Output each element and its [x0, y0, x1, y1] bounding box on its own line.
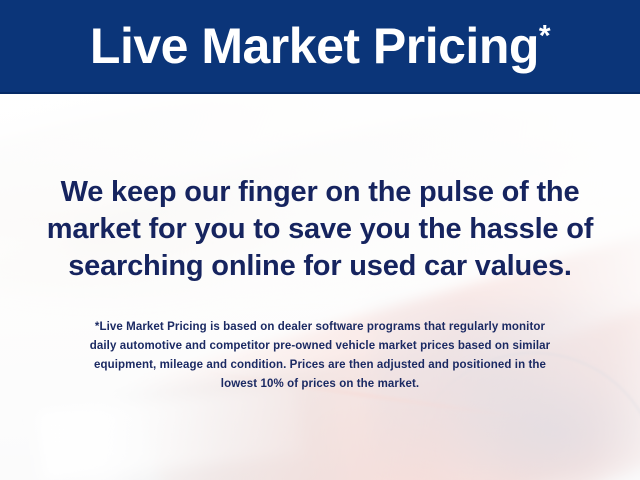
page-title-text: Live Market Pricing: [90, 18, 539, 74]
disclaimer-line-1: *Live Market Pricing is based on dealer …: [0, 318, 640, 337]
background-white-streak: [37, 385, 303, 480]
headline-line-2: market for you to save you the hassle of: [0, 211, 640, 248]
disclaimer: *Live Market Pricing is based on dealer …: [0, 318, 640, 394]
header-bar: Live Market Pricing*: [0, 0, 640, 94]
disclaimer-line-4: lowest 10% of prices on the market.: [0, 375, 640, 394]
headline: We keep our finger on the pulse of the m…: [0, 174, 640, 285]
disclaimer-line-2: daily automotive and competitor pre-owne…: [0, 337, 640, 356]
page-title: Live Market Pricing*: [90, 21, 550, 71]
disclaimer-line-3: equipment, mileage and condition. Prices…: [0, 356, 640, 375]
live-market-pricing-banner: Live Market Pricing* We keep our finger …: [0, 0, 640, 480]
footnote-marker: *: [539, 19, 550, 52]
headline-line-1: We keep our finger on the pulse of the: [0, 174, 640, 211]
headline-line-3: searching online for used car values.: [0, 248, 640, 285]
